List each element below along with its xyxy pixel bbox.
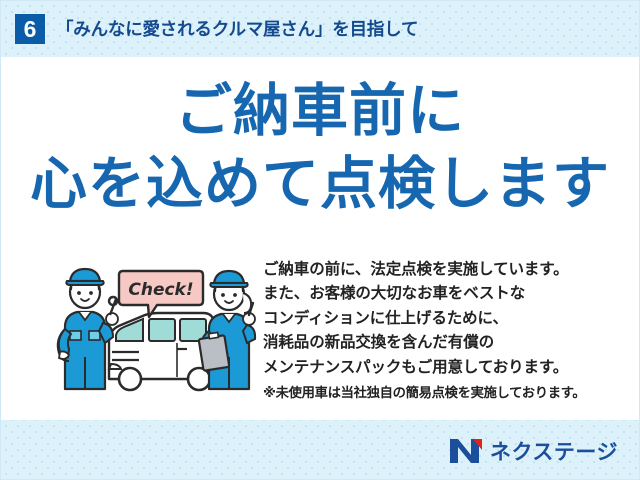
brand-name: ネクステージ [490, 436, 618, 466]
advertisement-card: 6 「みんなに愛されるクルマ屋さん」を目指して ご納車前に 心を込めて点検します… [0, 0, 640, 480]
body-line: コンディションに仕上げるために、 [263, 307, 633, 331]
nextage-n-logo-icon [449, 438, 483, 464]
body-line: ご納車の前に、法定点検を実施しています。 [263, 258, 633, 282]
headline: ご納車前に 心を込めて点検します [1, 83, 639, 213]
body-line: メンテナンスパックもご用意しております。 [263, 356, 633, 380]
body-line: また、お客様の大切なお車をベストな [263, 282, 633, 306]
headline-line-2: 心を込めて点検します [1, 156, 639, 213]
staff-inspection-illustration: Check! [53, 257, 259, 402]
header-title: 「みんなに愛されるクルマ屋さん」を目指して [56, 16, 418, 41]
headline-line-1: ご納車前に [1, 83, 639, 140]
body-line: 消耗品の新品交換を含んだ有償の [263, 331, 633, 355]
section-number-badge: 6 [15, 14, 45, 44]
brand-logo: ネクステージ [449, 436, 618, 466]
content-panel: ご納車前に 心を込めて点検します ご納車の前に、法定点検を実施しています。 また… [1, 57, 639, 420]
body-note: ※未使用車は当社独自の簡易点検を実施しております。 [263, 382, 635, 401]
check-speech-bubble: Check! [119, 271, 203, 317]
body-paragraph: ご納車の前に、法定点検を実施しています。 また、お客様の大切なお車をベストな コ… [263, 258, 633, 380]
header-bar: 6 「みんなに愛されるクルマ屋さん」を目指して [0, 0, 640, 57]
speech-bubble-label: Check! [128, 280, 193, 300]
